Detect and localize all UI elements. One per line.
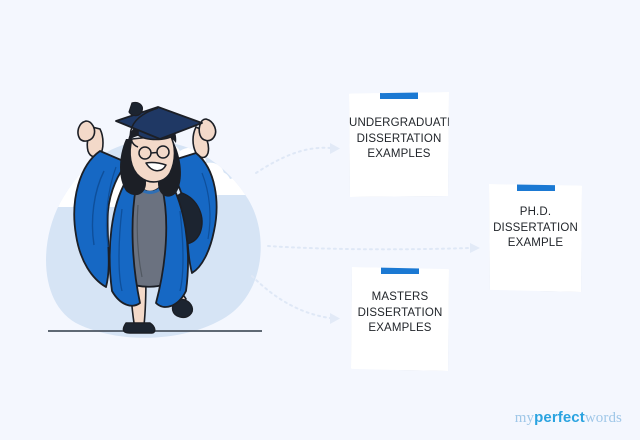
arrow-to-masters-head bbox=[330, 313, 340, 324]
logo-text-my: my bbox=[515, 410, 534, 426]
logo-text-words: words bbox=[585, 410, 622, 426]
card-line-2: DISSERTATION bbox=[351, 306, 449, 322]
card-phd-dissertation-example[interactable]: PH.D. DISSERTATION EXAMPLE bbox=[489, 184, 582, 292]
card-line-1: UNDERGRADUATE bbox=[349, 116, 449, 132]
celebrating-graduate-illustration bbox=[20, 95, 280, 345]
card-masters-text: MASTERS DISSERTATION EXAMPLES bbox=[351, 290, 449, 337]
card-line-1: PH.D. bbox=[489, 205, 582, 221]
card-line-2: DISSERTATION bbox=[489, 221, 582, 237]
card-line-3: EXAMPLE bbox=[489, 236, 582, 252]
logo-text-perfect: perfect bbox=[534, 409, 585, 426]
card-undergraduate-dissertation-examples[interactable]: UNDERGRADUATE DISSERTATION EXAMPLES bbox=[349, 92, 449, 197]
arrow-to-phd-head bbox=[470, 243, 480, 253]
card-undergraduate-text: UNDERGRADUATE DISSERTATION EXAMPLES bbox=[349, 116, 449, 163]
card-tab-phd bbox=[517, 176, 555, 191]
myperfectwords-logo[interactable]: myperfectwords bbox=[515, 409, 622, 427]
card-tab-masters bbox=[381, 259, 419, 274]
card-line-2: DISSERTATION bbox=[349, 132, 449, 148]
card-masters-dissertation-examples[interactable]: MASTERS DISSERTATION EXAMPLES bbox=[351, 267, 449, 371]
card-line-1: MASTERS bbox=[351, 290, 449, 306]
card-line-3: EXAMPLES bbox=[349, 147, 449, 163]
card-tab-undergraduate bbox=[380, 84, 418, 99]
arrow-to-phd-path bbox=[268, 246, 470, 249]
arrow-to-undergraduate-head bbox=[330, 143, 340, 154]
card-phd-text: PH.D. DISSERTATION EXAMPLE bbox=[489, 205, 582, 252]
card-line-3: EXAMPLES bbox=[351, 321, 449, 337]
illustration-canvas: UNDERGRADUATE DISSERTATION EXAMPLES MAST… bbox=[0, 0, 640, 440]
